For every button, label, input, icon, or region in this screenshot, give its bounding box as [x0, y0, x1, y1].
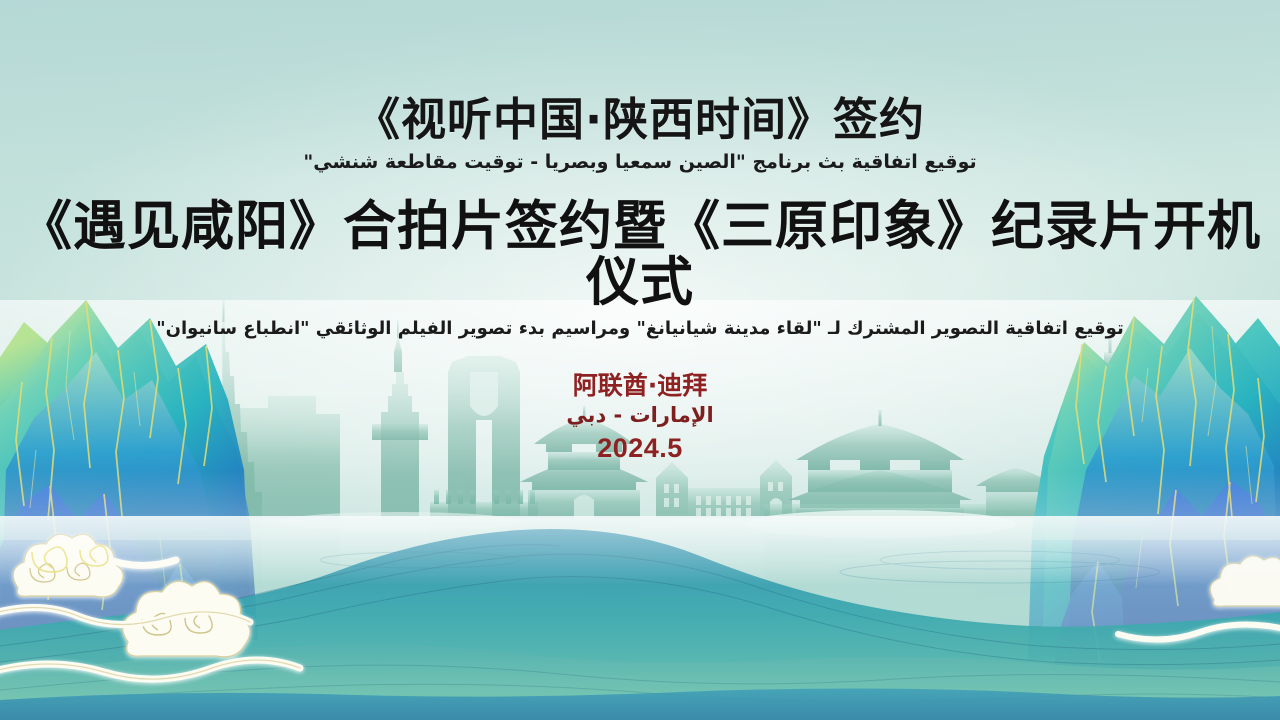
title-chinese-primary: 《视听中国·陕西时间》签约 — [0, 96, 1280, 144]
place-block: 阿联酋·迪拜 الإمارات - دبي 2024.5 — [0, 372, 1280, 464]
cloud-puff-a — [13, 534, 123, 597]
poster-canvas: 《视听中国·陕西时间》签约 توقيع اتفاقية بث برنامج "ا… — [0, 0, 1280, 720]
headline-block: 《视听中国·陕西时间》签约 توقيع اتفاقية بث برنامج "ا… — [0, 96, 1280, 339]
cloud-puff-right — [1210, 556, 1280, 607]
location-arabic: الإمارات - دبي — [0, 403, 1280, 427]
auspicious-clouds — [0, 534, 1280, 679]
title-chinese-secondary: 《遇见咸阳》合拍片签约暨《三原印象》纪录片开机仪式 — [0, 199, 1280, 311]
subtitle-arabic-primary: توقيع اتفاقية بث برنامج "الصين سمعيا وبص… — [0, 151, 1280, 173]
cloud-ribbons-right — [1118, 624, 1280, 639]
cloud-puff-b — [123, 581, 251, 657]
location-chinese: 阿联酋·迪拜 — [0, 372, 1280, 401]
event-date: 2024.5 — [0, 433, 1280, 464]
subtitle-arabic-secondary: توقيع اتفاقية التصوير المشترك لـ "لقاء م… — [0, 318, 1280, 339]
